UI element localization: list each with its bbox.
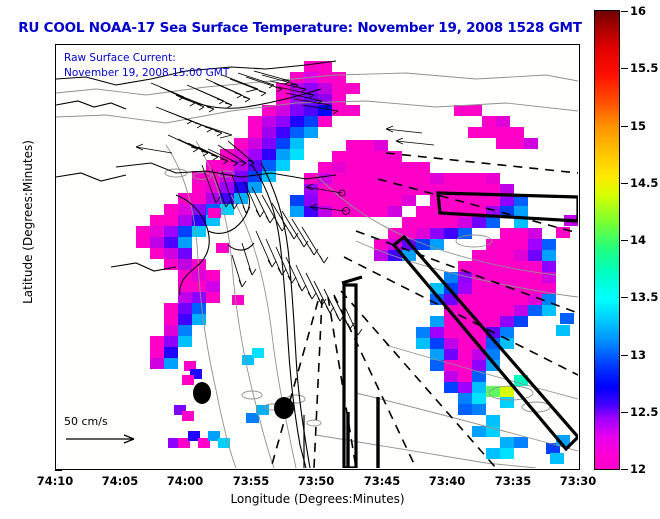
page-title: RU COOL NOAA-17 Sea Surface Temperature:… [0,20,600,36]
station-marker-layer [193,382,294,419]
colorbar-tick-label: 13.5 [630,290,658,304]
colorbar-tick-mark [621,240,628,241]
colorbar-tick-mark [621,297,628,298]
colorbar-tick-mark [621,469,628,470]
x-tick-label: 73:45 [347,474,417,488]
colorbar-tick-label: 14.5 [630,176,658,190]
x-tick-label: 73:40 [412,474,482,488]
subtitle-annotation: Raw Surface Current: November 19, 2008 1… [64,51,229,81]
colorbar-tick-label: 16 [630,4,646,18]
colorbar-tick-mark [621,11,628,12]
x-tick-label: 74:00 [150,474,220,488]
colorbar-tick-label: 12 [630,462,646,476]
scale-arrow-icon [64,432,144,446]
colorbar-tick-label: 15 [630,119,646,133]
subtitle-line-2: November 19, 2008 15:00 GMT [64,66,229,81]
colorbar-tick-mark [621,412,628,413]
temperature-colorbar [594,10,620,470]
colorbar-tick-label: 13 [630,348,646,362]
sst-map-plot: Raw Surface Current: November 19, 2008 1… [55,44,580,470]
x-tick-label: 74:10 [20,474,90,488]
velocity-scale-legend: 50 cm/s [64,415,144,446]
y-axis-label: Latitude (Degrees:Minutes) [21,102,35,342]
station-marker [193,382,211,404]
scale-legend-label: 50 cm/s [64,415,144,428]
x-tick-label: 73:55 [216,474,286,488]
x-tick-label: 73:30 [543,474,613,488]
x-tick-label: 73:35 [478,474,548,488]
colorbar-tick-mark [621,355,628,356]
x-tick-label: 74:05 [85,474,155,488]
colorbar-tick-label: 15.5 [630,61,658,75]
colorbar-tick-label: 12.5 [630,405,658,419]
x-axis-label: Longitude (Degrees:Minutes) [55,492,580,506]
x-tick-label: 73:50 [281,474,351,488]
figure-canvas: RU COOL NOAA-17 Sea Surface Temperature:… [0,0,660,519]
colorbar-tick-label: 14 [630,233,646,247]
station-marker [274,397,294,419]
map-layers [56,45,578,468]
colorbar-tick-mark [621,68,628,69]
channel-marker-layer [348,397,378,468]
subtitle-line-1: Raw Surface Current: [64,51,229,66]
colorbar-tick-mark [621,126,628,127]
colorbar-tick-mark [621,183,628,184]
